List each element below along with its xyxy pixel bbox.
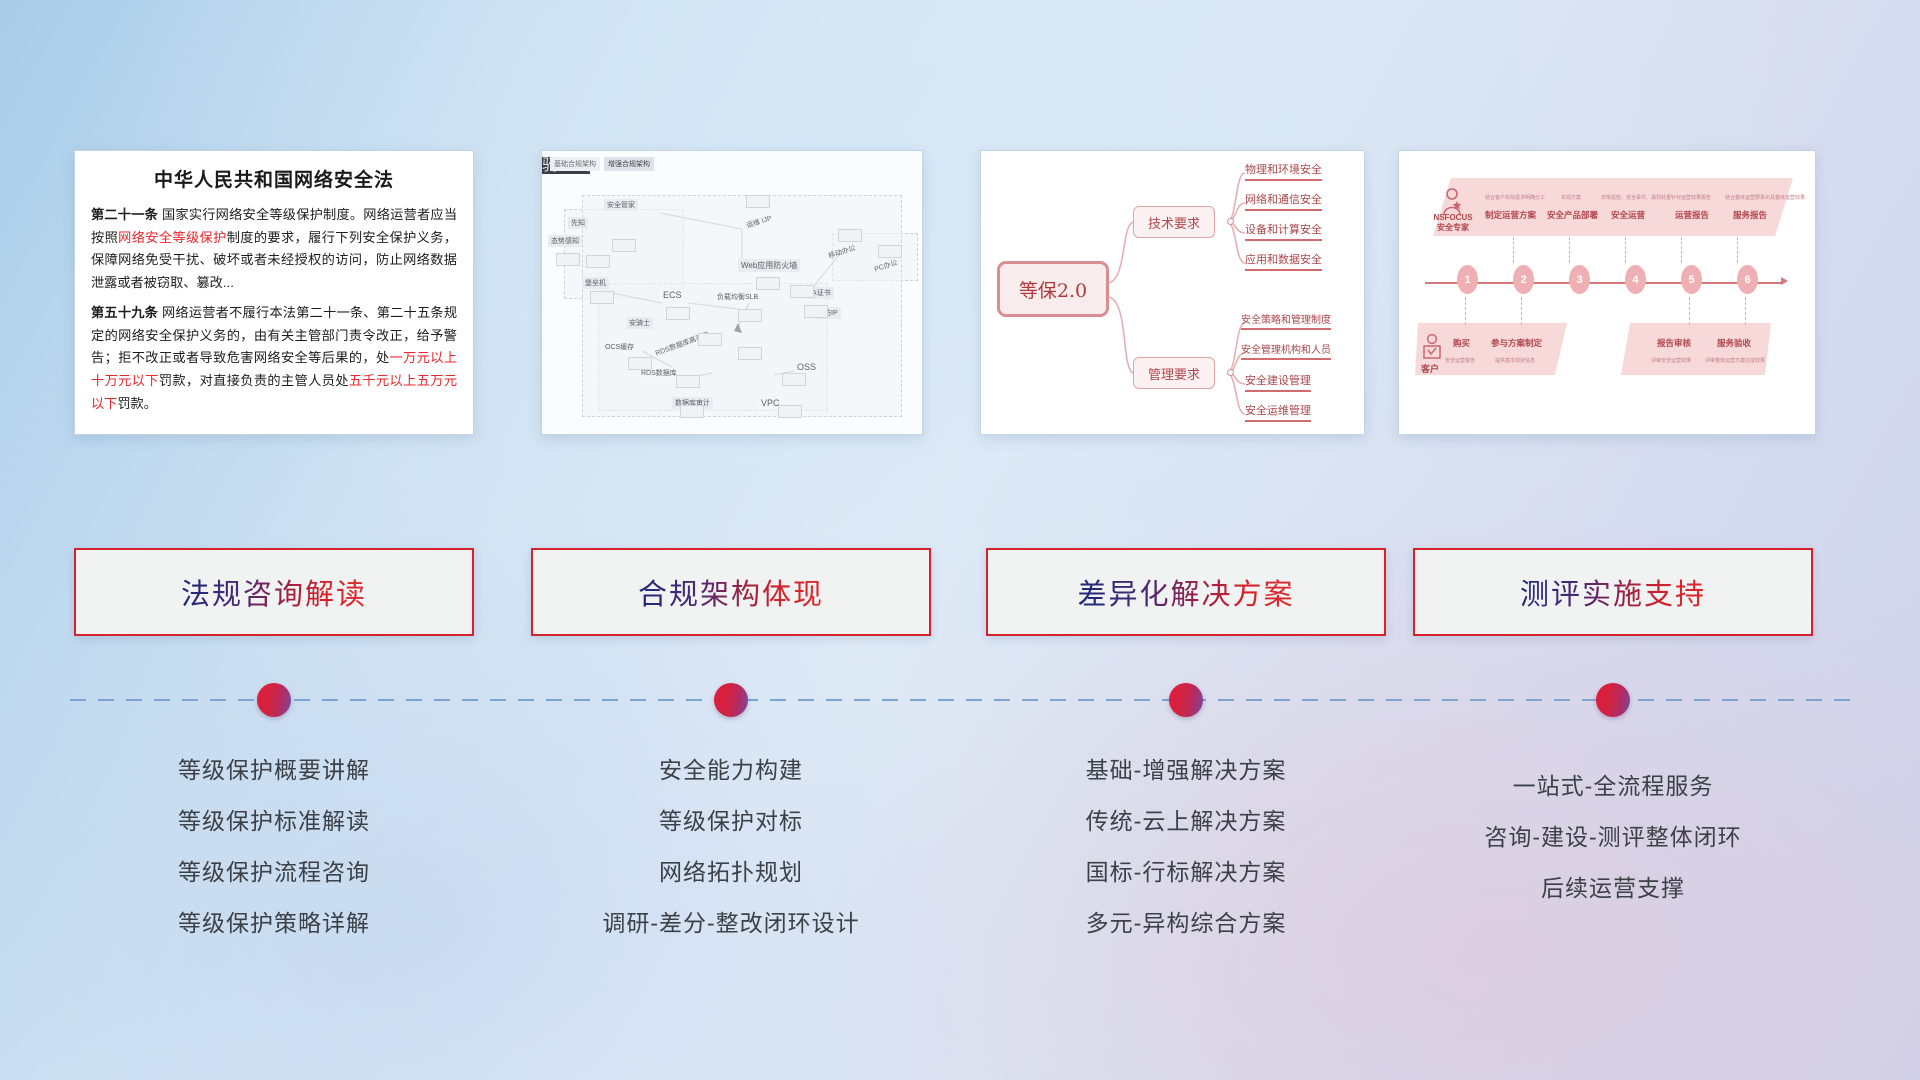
arch-icon-cube-11 [804,305,828,318]
nsfocus-step-node-6[interactable]: 6 [1737,265,1758,294]
nsfocus-customer-band-right [1621,323,1771,375]
mindmap-root-node: 等保2.0 [997,261,1109,317]
nsfocus-bottom-sub-4: 评审整体运营方案达成效果 [1705,357,1765,364]
law-title: 中华人民共和国网络安全法 [91,165,457,192]
arch-icon-cube-19 [878,245,902,258]
nsfocus-connector-top-5 [1737,237,1738,263]
mindmap-collapse-dot-technical[interactable] [1227,218,1234,225]
nsfocus-axis-line [1425,282,1783,284]
list-item: 后续运营支撑 [1413,863,1813,914]
arch-icon-cube-3 [556,253,580,266]
arch-icon-cube-6 [698,333,722,346]
list-item: 一站式-全流程服务 [1413,761,1813,812]
arch-icon-cube-17 [746,195,770,208]
nsfocus-top-label-2: 安全产品部署 [1547,209,1598,221]
mindmap-collapse-dot-management[interactable] [1227,369,1234,376]
arch-icon-cube-12 [628,357,652,370]
nsfocus-step-node-2[interactable]: 2 [1513,265,1534,294]
nsfocus-top-sub-5: 结合整体运营要素出具整体运营效果 [1725,194,1805,201]
nsfocus-brand-line2: 安全专家 [1437,223,1469,232]
nsfocus-provider-band [1433,178,1793,236]
nsfocus-bottom-sub-1: 安全运营报告 [1445,357,1475,364]
arch-node-security-butler: 安全管家 [604,199,638,211]
card-compliance-architecture[interactable]: 基础合规架构 增强合规架构 [541,150,923,435]
arch-icon-cube-14 [680,405,704,418]
mindmap-branch-technical: 技术要求 [1133,206,1215,238]
preview-card-row: 中华人民共和国网络安全法 第二十一条 国家实行网络安全等级保护制度。网络运营者应… [0,150,1920,440]
nsfocus-brand-line1: NSFOCUS [1433,213,1472,222]
arch-icon-cube-10 [790,285,814,298]
list-item: 等级保护流程咨询 [74,847,474,898]
list-item: 国标-行标解决方案 [986,847,1386,898]
arch-node-ocs-cache: OCS缓存 [602,341,637,353]
nsfocus-top-sub-4: 针对运营效果报告 [1671,194,1711,201]
timeline-dashed-line [70,699,1850,701]
arch-node-ecs: ECS [660,289,685,301]
list-item: 等级保护标准解读 [74,796,474,847]
timeline-dot-3[interactable] [1169,683,1203,717]
card-nsfocus-service-timeline[interactable]: NSFOCUS 安全专家 客户 结合客户实际需求明确分工 制定运营方案 实现方案… [1398,150,1816,435]
nsfocus-timeline: NSFOCUS 安全专家 客户 结合客户实际需求明确分工 制定运营方案 实现方案… [1399,151,1815,434]
section-header-label-2: 合规架构体现 [638,571,824,613]
mindmap-leaf-app-data: 应用和数据安全 [1245,251,1322,271]
section-items-column-1: 等级保护概要讲解 等级保护标准解读 等级保护流程咨询 等级保护策略详解 [74,745,474,949]
nsfocus-connector-top-2 [1569,237,1570,263]
nsfocus-bottom-label-2: 参与方案制定 [1491,337,1542,349]
list-item: 基础-增强解决方案 [986,745,1386,796]
arch-icon-cube-13 [676,375,700,388]
arch-node-bastion-host: 堡垒机 [582,277,609,289]
list-item: 等级保护概要讲解 [74,745,474,796]
arch-icon-cube-4 [590,291,614,304]
customer-icon [1421,333,1443,361]
section-header-box-4[interactable]: 测评实施支持 [1413,548,1813,636]
law-article-59-seg-4: 罚款。 [117,396,157,411]
section-header-box-2[interactable]: 合规架构体现 [531,548,931,636]
arch-icon-cube-15 [782,373,806,386]
mindmap-leaf-physical-env: 物理和环境安全 [1245,161,1322,181]
arch-icon-cube-9 [756,277,780,290]
arch-icon-cube-18 [838,229,862,242]
section-items-column-2: 安全能力构建 等级保护对标 网络拓扑规划 调研-差分-整改闭环设计 [531,745,931,949]
timeline-dot-4[interactable] [1596,683,1630,717]
law-article-21-number: 第二十一条 [91,207,158,222]
section-header-box-1[interactable]: 法规咨询解读 [74,548,474,636]
section-items-column-4: 一站式-全流程服务 咨询-建设-测评整体闭环 后续运营支撑 [1413,761,1813,914]
nsfocus-top-sub-2: 实现方案 [1561,194,1581,201]
nsfocus-bottom-label-3: 报告审核 [1657,337,1691,349]
nsfocus-brand: NSFOCUS 安全专家 [1425,213,1481,232]
list-item: 等级保护策略详解 [74,898,474,949]
mindmap-diagram: 等保2.0 技术要求 管理要求 物理和环境安全 网络和通信安全 设备和计算安全 … [981,151,1364,434]
nsfocus-top-label-3: 安全运营 [1611,209,1645,221]
section-header-row: 法规咨询解读 合规架构体现 差异化解决方案 测评实施支持 [0,548,1920,640]
law-article-59-number: 第五十九条 [91,305,158,320]
nsfocus-bottom-label-4: 服务验收 [1717,337,1751,349]
nsfocus-bottom-label-1: 购买 [1453,337,1470,349]
nsfocus-connector-top-4 [1681,237,1682,263]
nsfocus-bottom-sub-2: 提供基本现状信息 [1495,357,1535,364]
law-article-59: 第五十九条 网络运营者不履行本法第二十一条、第二十五条规定的网络安全保护义务的，… [91,302,457,416]
mindmap-leaf-construction-mgmt: 安全建设管理 [1245,372,1311,392]
section-header-label-3: 差异化解决方案 [1077,571,1294,613]
timeline-dot-2[interactable] [714,683,748,717]
list-item: 安全能力构建 [531,745,931,796]
nsfocus-connector-bottom-3 [1689,297,1690,325]
list-item: 网络拓扑规划 [531,847,931,898]
nsfocus-bottom-sub-3: 评审安全运营效果 [1651,357,1691,364]
section-items-row: 等级保护概要讲解 等级保护标准解读 等级保护流程咨询 等级保护策略详解 安全能力… [0,745,1920,975]
nsfocus-top-label-5: 服务报告 [1733,209,1767,221]
nsfocus-connector-top-1 [1513,237,1514,263]
nsfocus-step-node-1[interactable]: 1 [1457,265,1478,294]
list-item: 传统-云上解决方案 [986,796,1386,847]
mindmap-leaf-ops-mgmt: 安全运维管理 [1245,402,1311,422]
arch-node-anqishi: 安骑士 [626,317,653,329]
nsfocus-top-label-1: 制定运营方案 [1485,209,1536,221]
section-header-box-3[interactable]: 差异化解决方案 [986,548,1386,636]
architecture-diagram: 基础合规架构 增强合规架构 [542,151,922,434]
arch-icon-cube-5 [666,307,690,320]
arch-icon-cube-1 [612,239,636,252]
nsfocus-step-node-4[interactable]: 4 [1625,265,1646,294]
nsfocus-top-label-4: 运营报告 [1675,209,1709,221]
nsfocus-connector-top-3 [1625,237,1626,263]
arch-node-slb: 负载均衡SLB [714,291,761,303]
arch-icon-cube-2 [586,255,610,268]
arch-icon-cube-16 [778,405,802,418]
nsfocus-connector-bottom-4 [1745,297,1746,325]
slide-canvas: 中华人民共和国网络安全法 第二十一条 国家实行网络安全等级保护制度。网络运营者应… [0,0,1920,1080]
mindmap-branch-management: 管理要求 [1133,357,1215,389]
nsfocus-customer-role: 客户 [1421,362,1439,375]
mindmap-leaf-network-comm: 网络和通信安全 [1245,191,1322,211]
nsfocus-top-sub-1: 结合客户实际需求明确分工 [1485,194,1545,201]
section-items-column-3: 基础-增强解决方案 传统-云上解决方案 国标-行标解决方案 多元-异构综合方案 [986,745,1386,949]
law-article-21: 第二十一条 国家实行网络安全等级保护制度。网络运营者应当按照网络安全等级保护制度… [91,204,457,295]
mindmap-leaf-org-personnel: 安全管理机构和人员 [1241,341,1331,360]
card-cybersecurity-law[interactable]: 中华人民共和国网络安全法 第二十一条 国家实行网络安全等级保护制度。网络运营者应… [74,150,474,435]
timeline-dot-1[interactable] [257,683,291,717]
list-item: 等级保护对标 [531,796,931,847]
nsfocus-connector-bottom-2 [1521,297,1522,325]
law-article-59-seg-2: 罚款，对直接负责的主管人员处 [159,373,349,388]
nsfocus-top-sub-3: 日常巡检、安全事件、漏洞处置 [1601,194,1671,201]
arch-node-oss: OSS [794,361,819,373]
section-header-label-1: 法规咨询解读 [181,571,367,613]
nsfocus-step-node-5[interactable]: 5 [1681,265,1702,294]
nsfocus-axis-arrow-icon [1781,277,1788,285]
list-item: 调研-差分-整改闭环设计 [531,898,931,949]
section-header-label-4: 测评实施支持 [1520,571,1706,613]
law-article-21-seg-1: 网络安全等级保护 [118,230,227,245]
arch-node-xianzhi: 先知 [568,217,588,229]
card-djcp-mindmap[interactable]: 等保2.0 技术要求 管理要求 物理和环境安全 网络和通信安全 设备和计算安全 … [980,150,1365,435]
nsfocus-step-node-3[interactable]: 3 [1569,265,1590,294]
mindmap-leaf-policy-system: 安全策略和管理制度 [1241,311,1331,330]
arch-node-situational-awareness: 态势感知 [548,235,582,247]
list-item: 咨询-建设-测评整体闭环 [1413,812,1813,863]
mindmap-leaf-device-compute: 设备和计算安全 [1245,221,1322,241]
law-document: 中华人民共和国网络安全法 第二十一条 国家实行网络安全等级保护制度。网络运营者应… [75,151,473,432]
arch-icon-cube-7 [738,347,762,360]
arch-node-waf: Web应用防火墙 [738,259,800,272]
nsfocus-connector-bottom-1 [1465,297,1466,325]
list-item: 多元-异构综合方案 [986,898,1386,949]
arch-icon-cube-8 [738,309,762,322]
